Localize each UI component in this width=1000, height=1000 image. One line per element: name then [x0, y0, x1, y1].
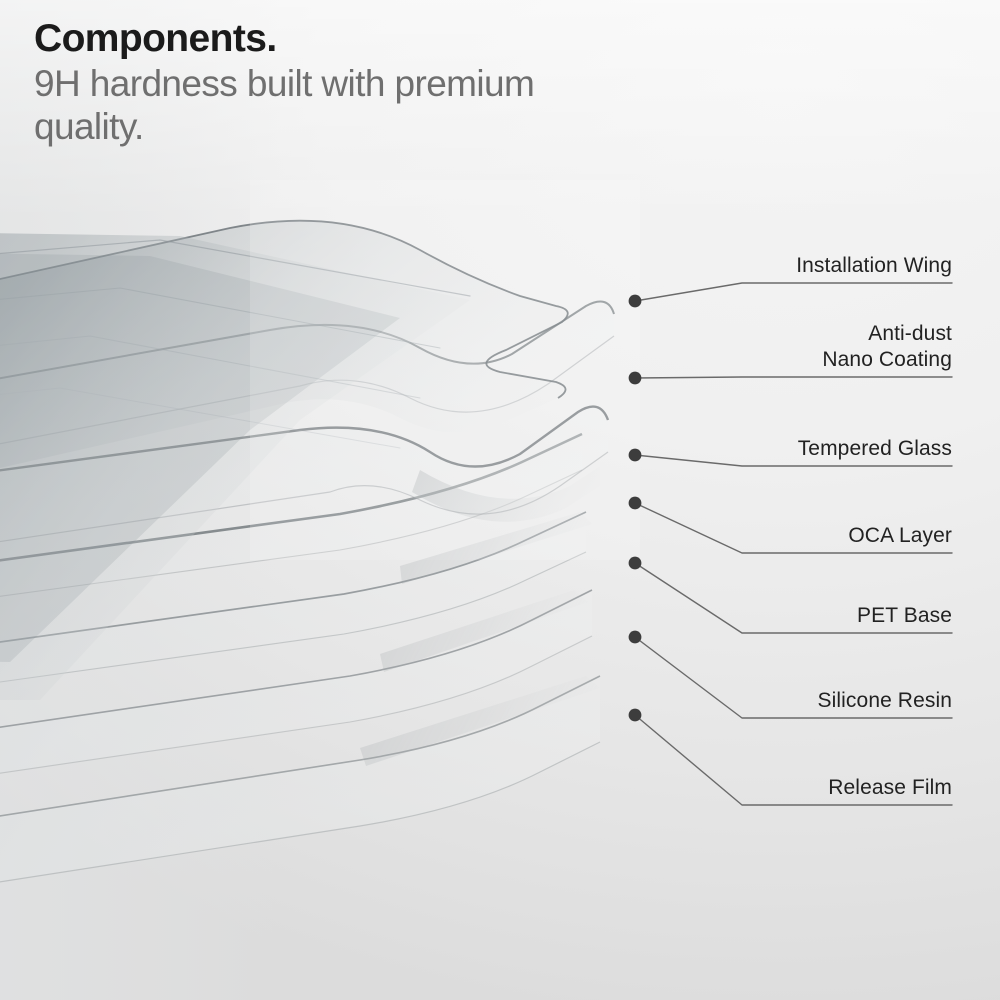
callout-label-oca-layer: OCA Layer	[848, 523, 952, 549]
callout-label-tempered-glass: Tempered Glass	[798, 436, 952, 462]
glass-layer-stack-illustration	[0, 0, 1000, 1000]
callout-label-pet-base: PET Base	[857, 603, 952, 629]
callout-label-silicone-resin: Silicone Resin	[818, 688, 952, 714]
page-subtitle: 9H hardness built with premium quality.	[34, 63, 594, 149]
callout-label-installation-wing: Installation Wing	[796, 253, 952, 279]
page-title: Components.	[34, 16, 594, 61]
page-title-block: Components. 9H hardness built with premi…	[34, 16, 594, 149]
components-infographic: Components. 9H hardness built with premi…	[0, 0, 1000, 1000]
callout-label-anti-dust-nano-coating: Anti-dust Nano Coating	[822, 321, 952, 372]
callout-label-release-film: Release Film	[828, 775, 952, 801]
